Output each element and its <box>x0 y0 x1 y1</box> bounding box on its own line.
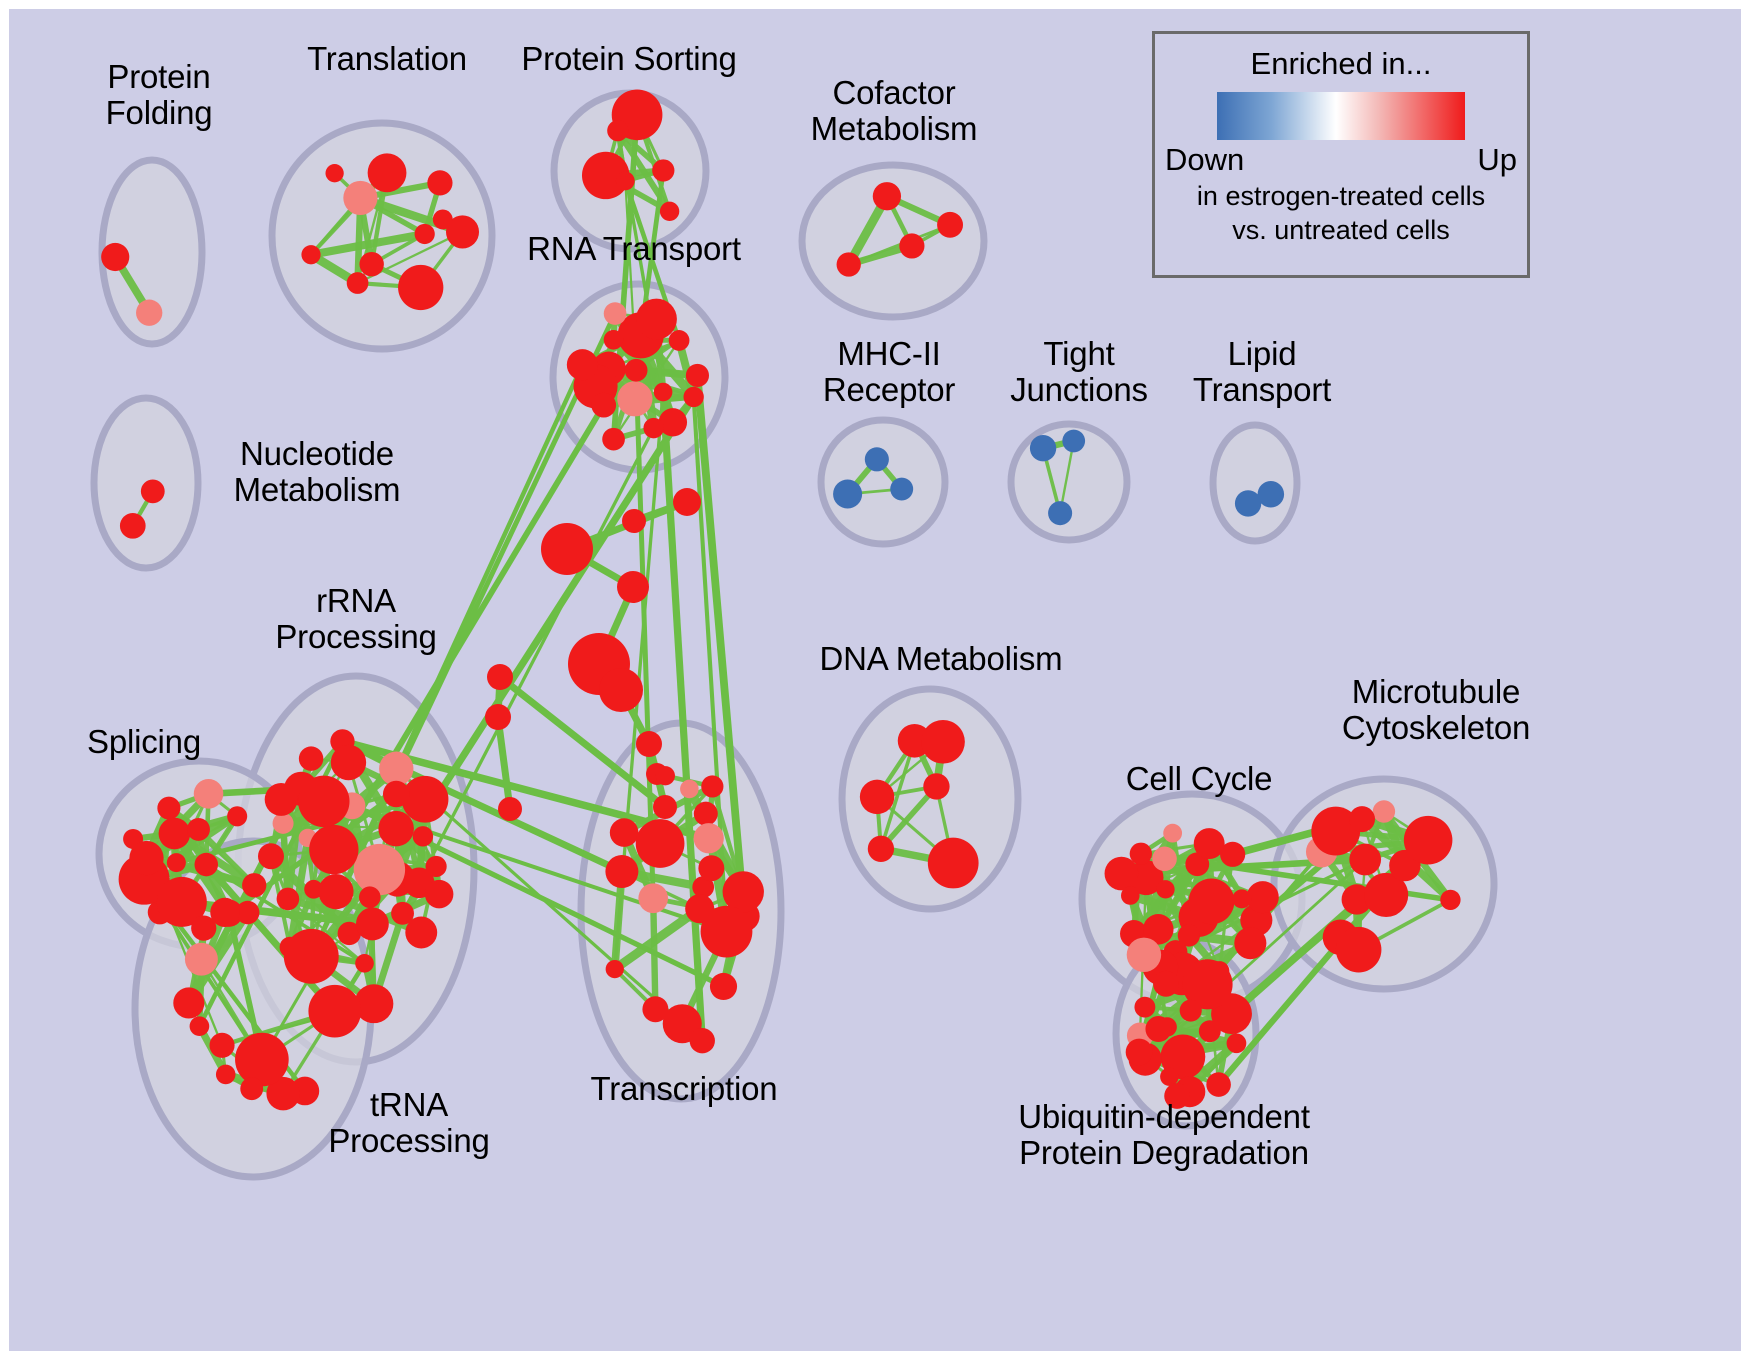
cluster-label: Protein Sorting <box>509 41 749 77</box>
network-node[interactable] <box>173 987 204 1018</box>
network-node[interactable] <box>643 418 663 438</box>
network-node[interactable] <box>284 929 339 984</box>
network-node[interactable] <box>485 704 511 730</box>
network-node[interactable] <box>1349 806 1375 832</box>
network-node[interactable] <box>433 210 453 230</box>
legend-subtitle-line2: vs. untreated cells <box>1155 214 1527 246</box>
legend-subtitle-line1: in estrogen-treated cells <box>1155 180 1527 212</box>
network-node[interactable] <box>617 381 652 416</box>
network-node[interactable] <box>599 668 643 712</box>
network-node[interactable] <box>299 746 323 770</box>
network-node[interactable] <box>354 844 405 895</box>
network-node[interactable] <box>487 664 513 690</box>
network-node[interactable] <box>298 776 349 827</box>
network-node[interactable] <box>318 874 353 909</box>
cluster-hull <box>1213 425 1297 541</box>
network-node[interactable] <box>1440 890 1460 910</box>
network-node[interactable] <box>833 479 862 508</box>
cluster-label: rRNA Processing <box>256 583 456 655</box>
cluster-label: Tight Junctions <box>994 336 1164 408</box>
network-node[interactable] <box>355 954 374 973</box>
network-node[interactable] <box>616 172 635 191</box>
network-node[interactable] <box>652 159 674 181</box>
network-node[interactable] <box>928 838 979 889</box>
network-node[interactable] <box>541 523 593 575</box>
network-node[interactable] <box>378 811 414 847</box>
network-node[interactable] <box>1404 816 1453 865</box>
network-node[interactable] <box>242 873 266 897</box>
network-node[interactable] <box>167 853 186 872</box>
network-node[interactable] <box>277 888 300 911</box>
network-canvas: Protein FoldingTranslationProtein Sortin… <box>9 9 1741 1351</box>
network-node[interactable] <box>923 773 949 799</box>
network-node[interactable] <box>368 153 407 192</box>
network-node[interactable] <box>890 478 913 501</box>
network-node[interactable] <box>356 908 389 941</box>
network-node[interactable] <box>656 766 675 785</box>
network-node[interactable] <box>379 752 413 786</box>
network-node[interactable] <box>415 224 435 244</box>
cluster-label: Lipid Transport <box>1177 336 1347 408</box>
network-node[interactable] <box>1232 889 1251 908</box>
network-node[interactable] <box>227 806 247 826</box>
network-node[interactable] <box>1227 1033 1247 1053</box>
cluster-label: Cell Cycle <box>1109 761 1289 797</box>
network-node[interactable] <box>309 825 358 874</box>
network-node[interactable] <box>567 349 598 380</box>
network-node[interactable] <box>684 387 704 407</box>
network-node[interactable] <box>343 181 377 215</box>
network-node[interactable] <box>622 509 646 533</box>
network-node[interactable] <box>398 265 443 310</box>
network-node[interactable] <box>391 902 414 925</box>
network-node[interactable] <box>1145 1016 1171 1042</box>
network-node[interactable] <box>607 120 628 141</box>
network-node[interactable] <box>694 802 718 826</box>
network-node[interactable] <box>860 780 894 814</box>
network-node[interactable] <box>610 818 639 847</box>
network-node[interactable] <box>498 797 522 821</box>
network-node[interactable] <box>642 996 668 1022</box>
network-node[interactable] <box>694 823 724 853</box>
network-node[interactable] <box>210 1033 235 1058</box>
network-node[interactable] <box>937 212 963 238</box>
network-node[interactable] <box>359 886 381 908</box>
network-node[interactable] <box>1180 999 1202 1021</box>
network-node[interactable] <box>402 776 449 823</box>
network-node[interactable] <box>101 243 129 271</box>
cluster-label: DNA Metabolism <box>811 641 1071 677</box>
network-node[interactable] <box>1349 844 1381 876</box>
network-node[interactable] <box>1189 879 1235 925</box>
network-node[interactable] <box>686 364 709 387</box>
network-node[interactable] <box>1235 490 1261 516</box>
network-node[interactable] <box>359 252 383 276</box>
network-node[interactable] <box>1030 435 1056 461</box>
network-node[interactable] <box>190 1016 210 1036</box>
cluster-label: RNA Transport <box>514 231 754 267</box>
network-node[interactable] <box>1163 824 1182 843</box>
network-node[interactable] <box>120 513 146 539</box>
cluster-label: tRNA Processing <box>314 1087 504 1159</box>
network-node[interactable] <box>591 393 616 418</box>
network-node[interactable] <box>427 170 452 195</box>
network-node[interactable] <box>383 781 409 807</box>
network-node[interactable] <box>265 783 298 816</box>
network-node[interactable] <box>899 233 924 258</box>
network-node[interactable] <box>1062 430 1085 453</box>
network-node[interactable] <box>301 245 320 264</box>
network-node[interactable] <box>426 856 447 877</box>
network-node[interactable] <box>236 901 260 925</box>
cluster-label: MHC-II Receptor <box>799 336 979 408</box>
figure-root: Protein FoldingTranslationProtein Sortin… <box>0 0 1750 1360</box>
cluster-label: Cofactor Metabolism <box>779 75 1009 147</box>
network-node[interactable] <box>331 745 366 780</box>
network-node[interactable] <box>240 1077 263 1100</box>
legend-gradient-bar <box>1217 92 1465 140</box>
network-node[interactable] <box>617 571 649 603</box>
network-node[interactable] <box>159 818 191 850</box>
cluster-label: Ubiquitin-dependent Protein Degradation <box>994 1099 1334 1171</box>
legend-down-label: Down <box>1165 142 1244 178</box>
network-node[interactable] <box>273 813 294 834</box>
network-node[interactable] <box>258 843 284 869</box>
network-node[interactable] <box>1105 857 1139 891</box>
network-node[interactable] <box>1134 997 1155 1018</box>
network-node[interactable] <box>1127 938 1161 972</box>
network-node[interactable] <box>216 1065 236 1085</box>
network-node[interactable] <box>837 252 861 276</box>
network-node[interactable] <box>690 1028 715 1053</box>
network-node[interactable] <box>636 299 677 340</box>
network-node[interactable] <box>868 836 894 862</box>
cluster-label: Protein Folding <box>69 59 249 131</box>
network-node[interactable] <box>654 383 673 402</box>
network-node[interactable] <box>873 182 901 210</box>
network-node[interactable] <box>1234 927 1266 959</box>
network-node[interactable] <box>129 841 163 875</box>
network-node[interactable] <box>308 985 361 1038</box>
network-node[interactable] <box>604 302 627 325</box>
network-node[interactable] <box>604 330 624 350</box>
network-node[interactable] <box>638 883 668 913</box>
network-node[interactable] <box>1336 927 1382 973</box>
network-node[interactable] <box>347 272 369 294</box>
network-node[interactable] <box>1121 886 1140 905</box>
legend-up-label: Up <box>1477 142 1517 178</box>
network-node[interactable] <box>1373 800 1395 822</box>
network-node[interactable] <box>141 479 165 503</box>
network-node[interactable] <box>701 906 753 958</box>
network-node[interactable] <box>157 797 180 820</box>
network-node[interactable] <box>673 488 701 516</box>
network-node[interactable] <box>210 898 239 927</box>
cluster-label: Splicing <box>64 724 224 760</box>
network-node[interactable] <box>921 720 965 764</box>
network-node[interactable] <box>194 779 224 809</box>
network-node[interactable] <box>602 428 625 451</box>
network-node[interactable] <box>235 1033 289 1087</box>
network-node[interactable] <box>1126 1039 1153 1066</box>
network-node[interactable] <box>425 880 453 908</box>
legend-panel: Enriched in... Down Up in estrogen-treat… <box>1152 31 1530 278</box>
network-node[interactable] <box>325 164 343 182</box>
cluster-label: Nucleotide Metabolism <box>202 436 432 508</box>
cluster-label: Microtubule Cytoskeleton <box>1311 674 1561 746</box>
legend-title: Enriched in... <box>1155 46 1527 82</box>
network-node[interactable] <box>669 330 690 351</box>
network-node[interactable] <box>136 300 162 326</box>
network-node[interactable] <box>710 973 737 1000</box>
network-node[interactable] <box>194 853 218 877</box>
network-node[interactable] <box>1206 1072 1231 1097</box>
network-node[interactable] <box>865 447 889 471</box>
network-node[interactable] <box>1258 481 1285 508</box>
network-node[interactable] <box>653 795 677 819</box>
network-node[interactable] <box>413 826 433 846</box>
network-node[interactable] <box>1048 501 1072 525</box>
cluster-label: Translation <box>277 41 497 77</box>
network-node[interactable] <box>1152 847 1177 872</box>
network-node[interactable] <box>660 202 679 221</box>
network-node[interactable] <box>636 731 662 757</box>
network-node[interactable] <box>1160 1067 1179 1086</box>
network-node[interactable] <box>1178 924 1200 946</box>
network-node[interactable] <box>1194 828 1225 859</box>
network-node[interactable] <box>625 359 648 382</box>
network-node[interactable] <box>1153 971 1179 997</box>
network-node[interactable] <box>1247 881 1279 913</box>
network-node[interactable] <box>680 780 699 799</box>
network-node[interactable] <box>605 855 638 888</box>
network-node[interactable] <box>1156 880 1174 898</box>
network-node[interactable] <box>185 943 218 976</box>
network-node[interactable] <box>606 960 624 978</box>
network-node[interactable] <box>636 819 685 868</box>
cluster-label: Transcription <box>574 1071 794 1107</box>
network-node[interactable] <box>698 855 724 881</box>
network-node[interactable] <box>701 775 723 797</box>
network-node[interactable] <box>187 818 210 841</box>
network-edge <box>498 717 510 809</box>
